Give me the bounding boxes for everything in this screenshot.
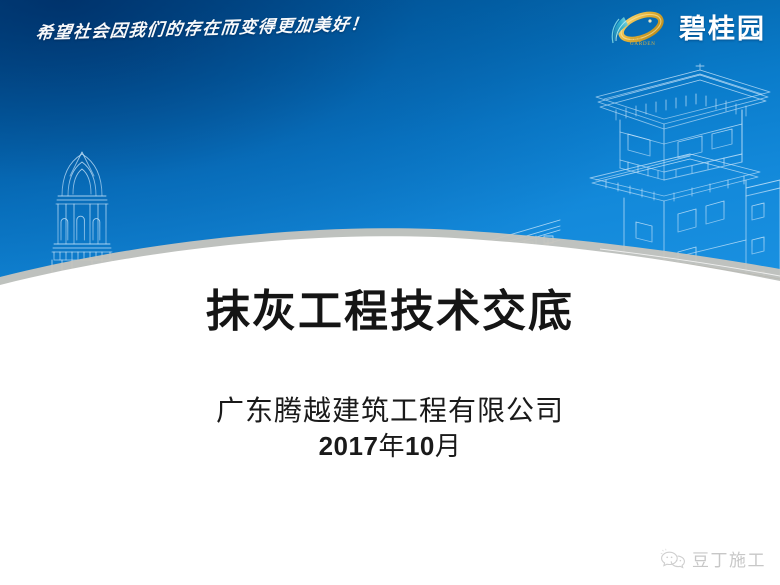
brand-name: 碧桂园 — [679, 16, 766, 43]
wechat-bubble-icon — [660, 548, 686, 570]
company-name: 广东腾越建筑工程有限公司 — [0, 393, 780, 428]
date-year-suffix: 年 — [378, 431, 405, 461]
date-month: 10 — [405, 431, 435, 461]
date-month-suffix: 月 — [435, 431, 462, 461]
subtitle-block: 广东腾越建筑工程有限公司 2017年10月 — [0, 393, 780, 464]
peacock-swoosh-icon: 碧桂园 GARDEN — [608, 9, 672, 49]
page-title: 抹灰工程技术交底 — [0, 288, 780, 336]
brand-latin-word: GARDEN — [630, 42, 656, 47]
date-line: 2017年10月 — [0, 430, 780, 464]
header-blue-band: 希望社会因我们的存在而变得更加美好！ — [0, 0, 780, 300]
date-year: 2017 — [319, 431, 379, 461]
watermark-text: 豆丁施工 — [692, 546, 766, 571]
brand-latin-text: 碧桂园 GARDEN — [630, 37, 656, 48]
watermark: 豆丁施工 — [660, 546, 766, 571]
brand-logo: 碧桂园 GARDEN 碧桂园 — [608, 8, 766, 50]
brand-latin-top: 碧桂园 — [630, 37, 656, 42]
presentation-slide: 希望社会因我们的存在而变得更加美好！ — [0, 0, 780, 585]
